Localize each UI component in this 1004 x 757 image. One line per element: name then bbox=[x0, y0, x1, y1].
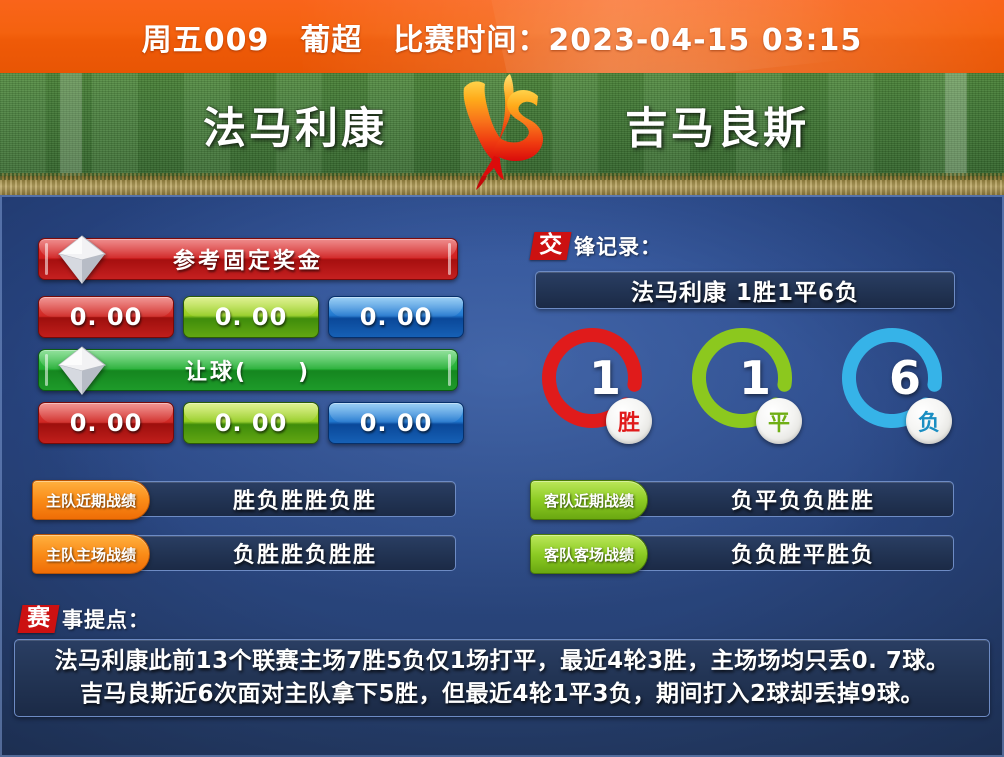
fixed-odd-draw[interactable]: 0. 00 bbox=[183, 296, 319, 338]
h2h-draw-badge: 平 bbox=[756, 398, 802, 444]
handicap-odd-home[interactable]: 0. 00 bbox=[38, 402, 174, 444]
form-row-away-recent: 负平负负胜胜 客队近期战绩 bbox=[530, 480, 954, 518]
fixed-odd-draw-value: 0. 00 bbox=[215, 303, 288, 331]
handicap-odd-draw[interactable]: 0. 00 bbox=[183, 402, 319, 444]
h2h-summary-bar: 法马利康 1胜1平6负 bbox=[535, 271, 955, 309]
fixed-odds-endcap-left bbox=[45, 243, 48, 275]
h2h-summary-text: 法马利康 1胜1平6负 bbox=[631, 273, 859, 307]
h2h-heading-rest: 锋记录： bbox=[574, 231, 662, 261]
pitch-line-left bbox=[60, 73, 82, 176]
handicap-endcap-right bbox=[448, 354, 451, 386]
h2h-heading-chip-label: 交 bbox=[539, 234, 562, 257]
tips-box: 法马利康此前13个联赛主场7胜5负仅1场打平，最近4轮3胜，主场场均只丢0. 7… bbox=[14, 639, 990, 717]
diamond-icon bbox=[57, 345, 107, 397]
handicap-odd-home-value: 0. 00 bbox=[70, 409, 143, 437]
tips-line-1: 法马利康此前13个联赛主场7胜5负仅1场打平，最近4轮3胜，主场场均只丢0. 7… bbox=[55, 645, 950, 678]
fixed-odd-away-value: 0. 00 bbox=[360, 303, 433, 331]
h2h-win-badge: 胜 bbox=[606, 398, 652, 444]
handicap-title-label: 让球( ) bbox=[185, 354, 311, 386]
header-title: 周五009 葡超 比赛时间：2023-04-15 03:15 bbox=[0, 0, 1004, 73]
fixed-odds-title-bar: 参考固定奖金 bbox=[38, 238, 458, 280]
h2h-ring-win: 1 胜 bbox=[538, 326, 646, 444]
pitch-line-right bbox=[945, 73, 967, 176]
handicap-odd-away-value: 0. 00 bbox=[360, 409, 433, 437]
h2h-ring-draw: 1 平 bbox=[688, 326, 796, 444]
fixed-odds-row: 0. 00 0. 00 0. 00 bbox=[38, 296, 464, 338]
tips-heading: 赛 事提点： bbox=[20, 604, 150, 634]
diamond-icon bbox=[57, 234, 107, 286]
away-venue-label: 客队客场战绩 bbox=[530, 534, 648, 574]
fixed-odds-endcap-right bbox=[448, 243, 451, 275]
tips-line-2: 吉马良斯近6次面对主队拿下5胜，但最近4轮1平3负，期间打入2球却丢掉9球。 bbox=[80, 678, 924, 711]
fixed-odds-title-label: 参考固定奖金 bbox=[173, 243, 323, 275]
fixed-odd-home[interactable]: 0. 00 bbox=[38, 296, 174, 338]
form-row-home-venue: 负胜胜负胜胜 主队主场战绩 bbox=[32, 534, 456, 572]
form-row-home-recent: 胜负胜胜负胜 主队近期战绩 bbox=[32, 480, 456, 518]
h2h-heading: 交 锋记录： bbox=[532, 231, 662, 261]
form-row-away-venue: 负负胜平胜负 客队客场战绩 bbox=[530, 534, 954, 572]
handicap-endcap-left bbox=[45, 354, 48, 386]
home-team-name: 法马利康 bbox=[150, 73, 440, 176]
handicap-odd-away[interactable]: 0. 00 bbox=[328, 402, 464, 444]
home-venue-label: 主队主场战绩 bbox=[32, 534, 150, 574]
h2h-heading-chip: 交 bbox=[530, 232, 572, 260]
handicap-odd-draw-value: 0. 00 bbox=[215, 409, 288, 437]
tips-heading-chip: 赛 bbox=[18, 605, 60, 633]
fixed-odd-away[interactable]: 0. 00 bbox=[328, 296, 464, 338]
vs-logo bbox=[452, 66, 562, 191]
away-team-name: 吉马良斯 bbox=[572, 73, 862, 176]
home-recent-label: 主队近期战绩 bbox=[32, 480, 150, 520]
h2h-ring-loss: 6 负 bbox=[838, 326, 946, 444]
tips-heading-chip-label: 赛 bbox=[27, 607, 50, 630]
handicap-odds-row: 0. 00 0. 00 0. 00 bbox=[38, 402, 464, 444]
h2h-loss-badge: 负 bbox=[906, 398, 952, 444]
handicap-title-bar: 让球( ) bbox=[38, 349, 458, 391]
fixed-odd-home-value: 0. 00 bbox=[70, 303, 143, 331]
match-preview-card: 周五009 葡超 比赛时间：2023-04-15 03:15 法马利康 吉马良斯 bbox=[0, 0, 1004, 757]
away-recent-label: 客队近期战绩 bbox=[530, 480, 648, 520]
tips-heading-rest: 事提点： bbox=[62, 604, 150, 634]
